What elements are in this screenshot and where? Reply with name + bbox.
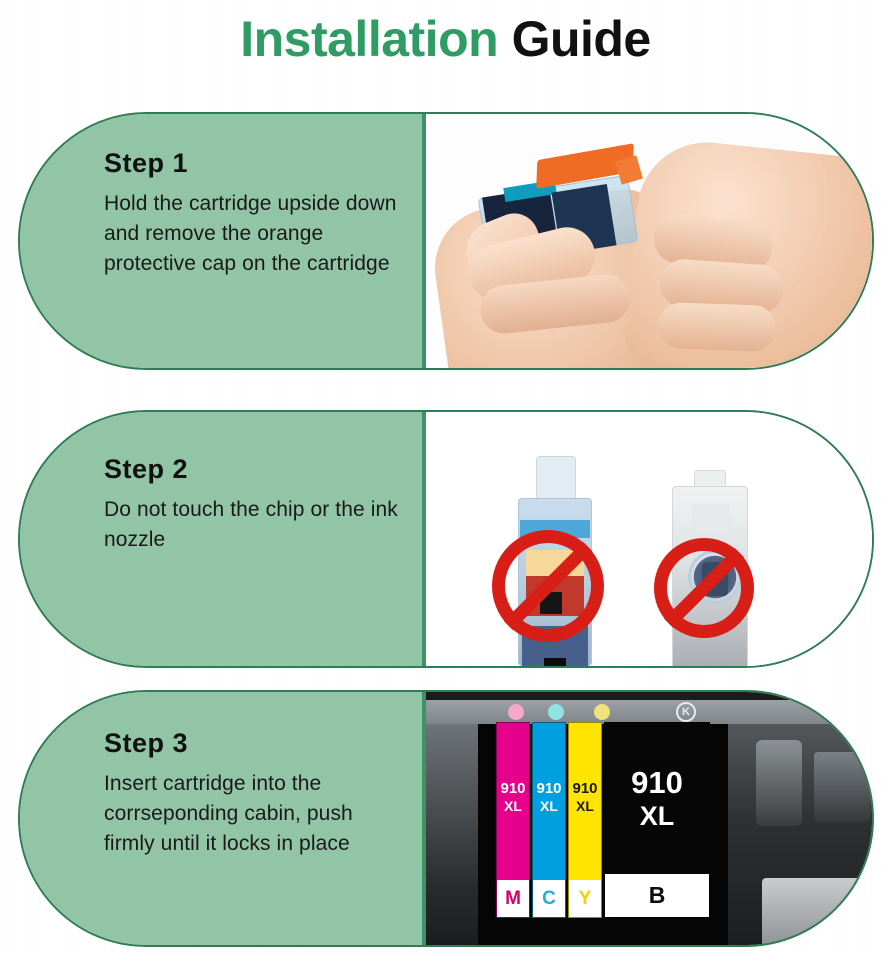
cartridge-color-letter: M: [497, 880, 529, 917]
step-2-body: Do not touch the chip or the ink nozzle: [104, 495, 400, 555]
step-1-heading: Step 1: [104, 148, 400, 179]
cartridge-size-label: XL: [576, 799, 594, 813]
cartridge-yellow: 910 XL Y: [568, 722, 602, 918]
printer-body-left: [426, 724, 478, 945]
page-title: Installation Guide: [0, 10, 891, 68]
magenta-slot-dot-icon: [508, 704, 524, 720]
printer-roller: [756, 740, 802, 826]
cartridge-model-number: 910: [500, 781, 525, 796]
step-2-text-panel: Step 2 Do not touch the chip or the ink …: [20, 412, 426, 666]
cartridge-black: 910 XL B: [604, 722, 710, 918]
step-card-1: Step 1 Hold the cartridge upside down an…: [18, 112, 874, 370]
left-cartridge-nozzle: [544, 658, 566, 666]
step-2-heading: Step 2: [104, 454, 400, 485]
step-3-photo: K 910 XL M 910 XL C 910 XL Y 910: [426, 692, 872, 945]
prohibition-slash: [504, 542, 592, 630]
printer-mechanism-block: [814, 752, 870, 822]
left-cartridge-neck: [536, 456, 576, 502]
cartridge-magenta: 910 XL M: [496, 722, 530, 918]
cartridge-cyan: 910 XL C: [532, 722, 566, 918]
carriage-label-strip: [426, 700, 872, 724]
hands-removing-orange-cap-photo: [426, 114, 872, 368]
prohibition-icon: [492, 530, 604, 642]
right-cartridge-cap: [692, 504, 730, 534]
cartridge-color-letter: C: [533, 880, 565, 917]
printer-tray: [762, 878, 872, 945]
page-title-green-part: Installation: [240, 11, 498, 67]
page-title-black-part: Guide: [512, 11, 651, 67]
cartridge-color-letter: B: [605, 874, 709, 917]
cyan-slot-dot-icon: [548, 704, 564, 720]
cartridge-model-number: 910: [572, 781, 597, 796]
cartridge-size-label: XL: [640, 803, 675, 830]
cartridge-model-number: 910: [536, 781, 561, 796]
prohibition-slash: [664, 548, 744, 628]
printer-carriage-with-cartridges-photo: K 910 XL M 910 XL C 910 XL Y 910: [426, 692, 872, 945]
step-1-text-panel: Step 1 Hold the cartridge upside down an…: [20, 114, 426, 368]
cartridge-model-number: 910: [631, 767, 683, 798]
cartridge-size-label: XL: [504, 799, 522, 813]
do-not-touch-chip-or-nozzle-photo: [426, 412, 872, 666]
yellow-slot-dot-icon: [594, 704, 610, 720]
prohibition-icon: [654, 538, 754, 638]
step-1-photo: [426, 114, 872, 368]
step-card-3: Step 3 Insert cartridge into the corrsep…: [18, 690, 874, 947]
step-3-heading: Step 3: [104, 728, 400, 759]
step-1-body: Hold the cartridge upside down and remov…: [104, 189, 400, 280]
black-slot-k-icon: K: [676, 702, 696, 722]
cartridge-size-label: XL: [540, 799, 558, 813]
cartridge-color-letter: Y: [569, 880, 601, 917]
step-card-2: Step 2 Do not touch the chip or the ink …: [18, 410, 874, 668]
knuckle-shape: [657, 302, 777, 352]
installation-guide-page: Installation Guide Step 1 Hold the cartr…: [0, 0, 891, 955]
step-3-text-panel: Step 3 Insert cartridge into the corrsep…: [20, 692, 426, 945]
step-3-body: Insert cartridge into the corrseponding …: [104, 769, 400, 860]
step-2-photo: [426, 412, 872, 666]
